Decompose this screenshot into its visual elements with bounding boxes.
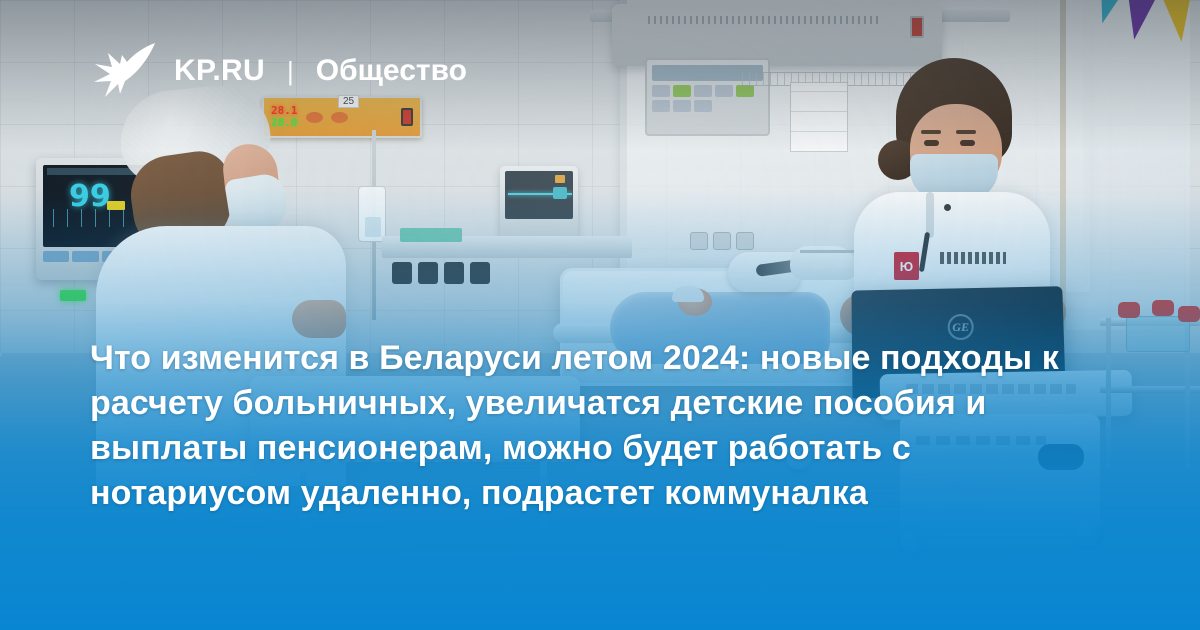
share-card: 28.1 28.0 25 99 (0, 0, 1200, 630)
rubric-label[interactable]: Общество (316, 54, 467, 88)
header-separator: | (287, 56, 294, 87)
headline: Что изменится в Беларуси летом 2024: нов… (90, 336, 1100, 516)
swallow-bird-logo-icon[interactable] (92, 40, 156, 102)
brand-name[interactable]: KP.RU (174, 54, 265, 88)
header: KP.RU | Общество (92, 40, 467, 102)
